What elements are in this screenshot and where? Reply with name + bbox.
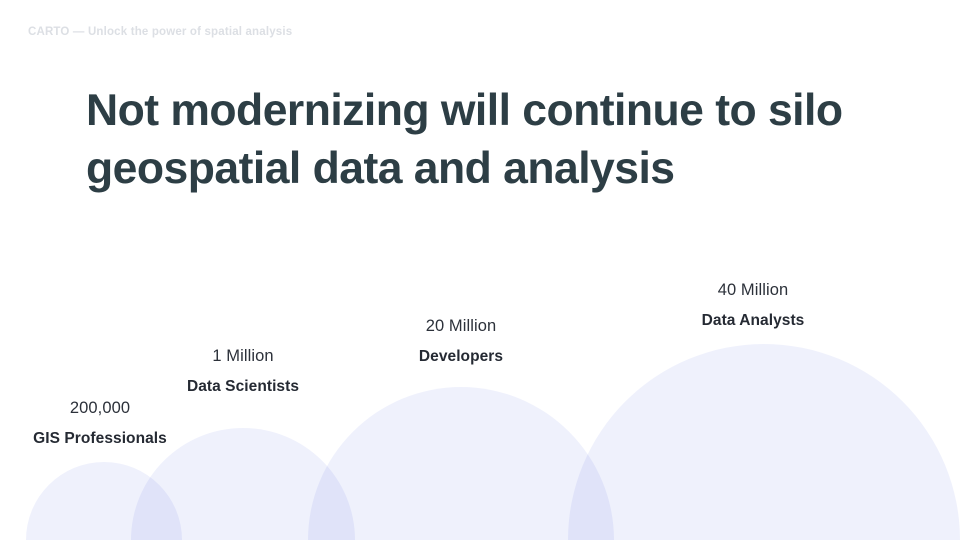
stat-data-analysts: 40 Million Data Analysts xyxy=(673,282,833,330)
bubble-gis-professionals xyxy=(26,462,182,540)
stat-label: GIS Professionals xyxy=(20,431,180,447)
stat-label: Data Scientists xyxy=(163,379,323,395)
stat-value: 40 Million xyxy=(673,282,833,299)
page-title: Not modernizing will continue to silo ge… xyxy=(86,82,876,198)
stat-value: 200,000 xyxy=(20,400,180,417)
stat-value: 20 Million xyxy=(381,318,541,335)
stat-gis-professionals: 200,000 GIS Professionals xyxy=(20,400,180,448)
stat-label: Data Analysts xyxy=(673,313,833,329)
stat-label: Developers xyxy=(381,349,541,365)
bubble-data-analysts xyxy=(568,344,960,540)
bubble-chart xyxy=(0,0,960,540)
slide-canvas: CARTO — Unlock the power of spatial anal… xyxy=(0,0,960,540)
bubble-developers xyxy=(308,387,614,540)
stat-value: 1 Million xyxy=(163,348,323,365)
stat-data-scientists: 1 Million Data Scientists xyxy=(163,348,323,396)
slide-eyebrow: CARTO — Unlock the power of spatial anal… xyxy=(28,26,292,38)
stat-developers: 20 Million Developers xyxy=(381,318,541,366)
